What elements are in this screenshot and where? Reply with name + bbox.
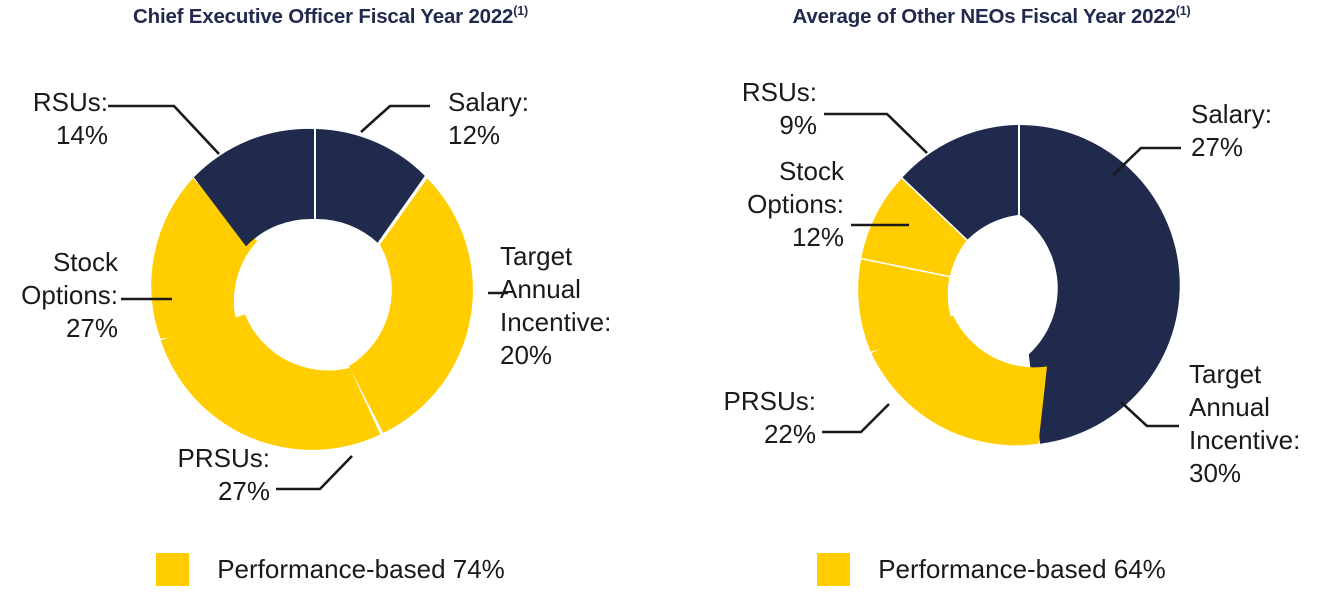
leader-line-prsus — [276, 456, 352, 489]
leader-line-target-annual-incentive — [1121, 402, 1179, 426]
label-salary: Salary: 27% — [1191, 98, 1321, 164]
leader-line-salary — [361, 106, 430, 132]
legend-neo: Performance-based 64% — [661, 553, 1322, 586]
legend-label-performance-based: Performance-based 64% — [878, 554, 1166, 585]
neo-donut-wrap: RSUs: 9% Stock Options: 12% Salary: 27% … — [661, 0, 1322, 520]
leader-line-rsus — [824, 114, 927, 153]
leader-line-prsus — [822, 404, 889, 432]
label-prsus: PRSUs: 22% — [661, 385, 816, 451]
leader-line-rsus — [108, 106, 219, 154]
leader-line-salary — [1113, 148, 1181, 175]
legend-swatch-performance-based — [817, 553, 850, 586]
ceo-donut-wrap: RSUs: 14% Salary: 12% Stock Options: 27%… — [0, 0, 661, 520]
ceo-chart-panel: Chief Executive Officer Fiscal Year 2022… — [0, 0, 661, 594]
label-stock-options: Stock Options: 12% — [689, 155, 844, 254]
legend-label-performance-based: Performance-based 74% — [217, 554, 505, 585]
label-stock-options: Stock Options: 27% — [0, 246, 118, 345]
label-salary: Salary: 12% — [448, 86, 638, 152]
neo-chart-panel: Average of Other NEOs Fiscal Year 2022(1… — [661, 0, 1322, 594]
legend-ceo: Performance-based 74% — [0, 553, 661, 586]
label-rsus: RSUs: 14% — [0, 86, 108, 152]
legend-swatch-performance-based — [156, 553, 189, 586]
label-target-annual-incentive: Target Annual Incentive: 20% — [500, 240, 660, 372]
label-prsus: PRSUs: 27% — [88, 442, 270, 508]
label-rsus: RSUs: 9% — [691, 76, 817, 142]
label-target-annual-incentive: Target Annual Incentive: 30% — [1189, 358, 1322, 490]
